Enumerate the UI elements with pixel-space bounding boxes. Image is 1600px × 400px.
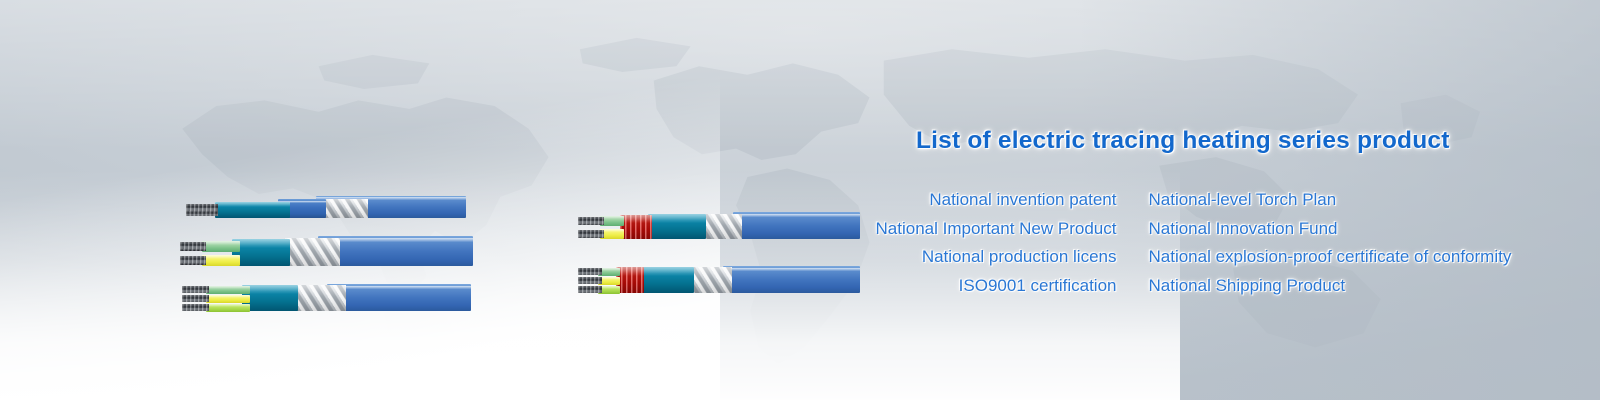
cable-insulation-lime — [206, 304, 250, 312]
cable-conductor — [578, 277, 602, 284]
product-banner: High value PTC series connection electri… — [0, 0, 1600, 400]
certification-item: National Shipping Product — [1148, 272, 1345, 301]
cable-conductor — [182, 286, 209, 293]
cable-insulation-yellow — [206, 295, 250, 303]
ptc-cable-1-conductor — [186, 196, 466, 220]
certification-lists: National invention patent National Impor… — [860, 186, 1560, 300]
cable-teal-jacket — [242, 285, 298, 311]
constant-power-cable-3-conductor — [578, 265, 860, 295]
certification-item: National explosion-proof certificate of … — [1148, 243, 1511, 272]
page-title: List of electric tracing heating series … — [916, 127, 1450, 155]
cable-teal-jacket — [215, 202, 290, 218]
certification-item: National-level Torch Plan — [1148, 186, 1336, 215]
cable-conductor — [578, 230, 604, 238]
cable-outer-jacket — [318, 236, 473, 266]
cable-conductor — [578, 286, 602, 293]
cable-teal-jacket — [232, 239, 290, 266]
cable-conductor — [578, 217, 604, 225]
cable-conductor — [186, 204, 218, 216]
certification-item: ISO9001 certification — [959, 272, 1117, 301]
cable-conductor — [180, 256, 206, 265]
cable-insulation-green — [206, 286, 250, 294]
cable-heating-element — [616, 267, 644, 293]
cable-insulation-green — [202, 241, 240, 252]
cable-outer-jacket — [327, 284, 471, 311]
certification-column-right: National-level Torch Plan National Innov… — [1116, 186, 1560, 300]
certification-item: National Innovation Fund — [1148, 215, 1337, 244]
cable-braid-shield — [702, 214, 742, 239]
cable-heating-element — [620, 215, 652, 239]
cable-insulation-yellow — [202, 255, 240, 266]
cable-outer-jacket — [723, 266, 860, 293]
cable-braid-shield — [690, 267, 732, 293]
certification-item: National invention patent — [929, 186, 1116, 215]
cable-braid-shield — [292, 285, 346, 311]
certification-column-left: National invention patent National Impor… — [860, 186, 1116, 300]
cable-outer-jacket — [733, 212, 860, 239]
certification-item: National production licens — [922, 243, 1117, 272]
cable-conductor — [182, 295, 209, 302]
ptc-cable-2-conductor — [180, 234, 470, 268]
constant-power-cable-2-conductor — [578, 211, 860, 241]
cable-conductor — [182, 304, 209, 311]
certification-item: National Important New Product — [876, 215, 1117, 244]
ptc-cable-3-conductor — [182, 283, 470, 313]
cable-teal-jacket — [648, 214, 706, 239]
cable-teal-jacket — [640, 267, 694, 293]
cable-conductor — [180, 242, 206, 251]
cable-braid-shield — [284, 238, 340, 266]
cable-conductor — [578, 268, 602, 275]
